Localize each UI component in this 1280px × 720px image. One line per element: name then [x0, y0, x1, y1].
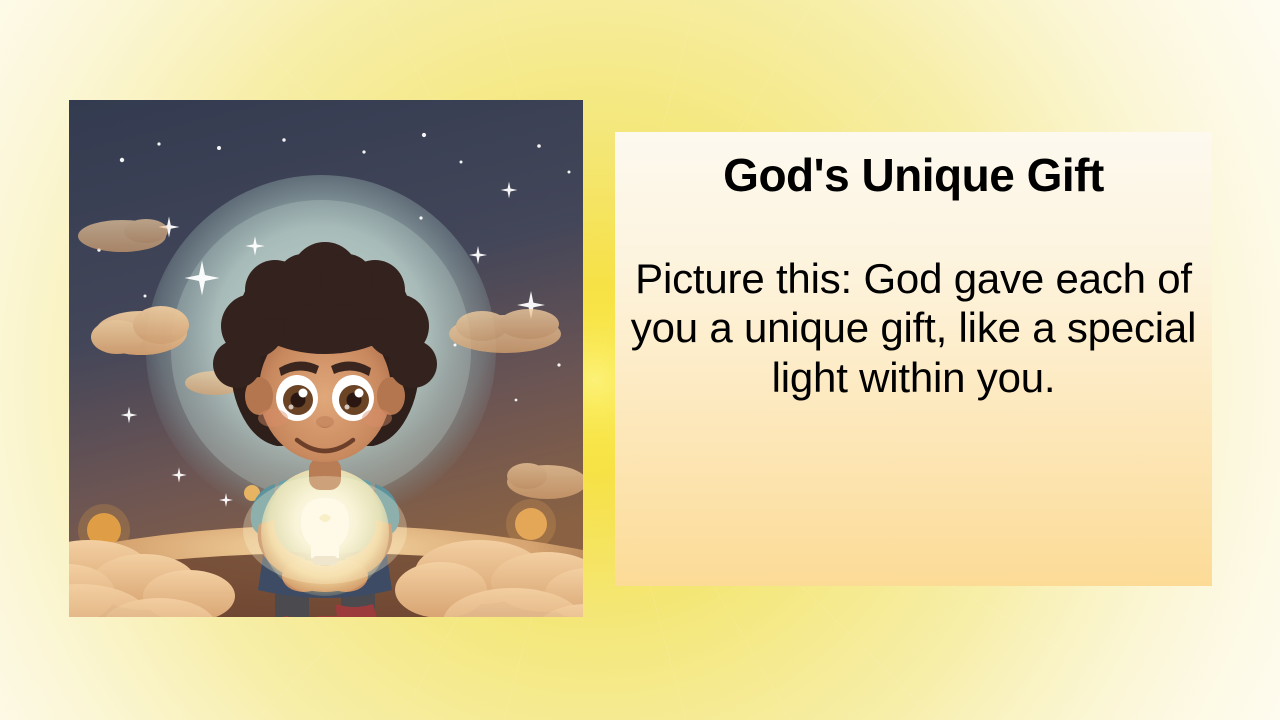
illustration-boy-with-lightbulb — [69, 100, 583, 617]
text-content-box: God's Unique Gift Picture this: God gave… — [615, 132, 1212, 586]
body-text: Picture this: God gave each of you a uni… — [629, 254, 1198, 403]
slide: God's Unique Gift Picture this: God gave… — [0, 0, 1280, 720]
page-title: God's Unique Gift — [629, 149, 1198, 202]
